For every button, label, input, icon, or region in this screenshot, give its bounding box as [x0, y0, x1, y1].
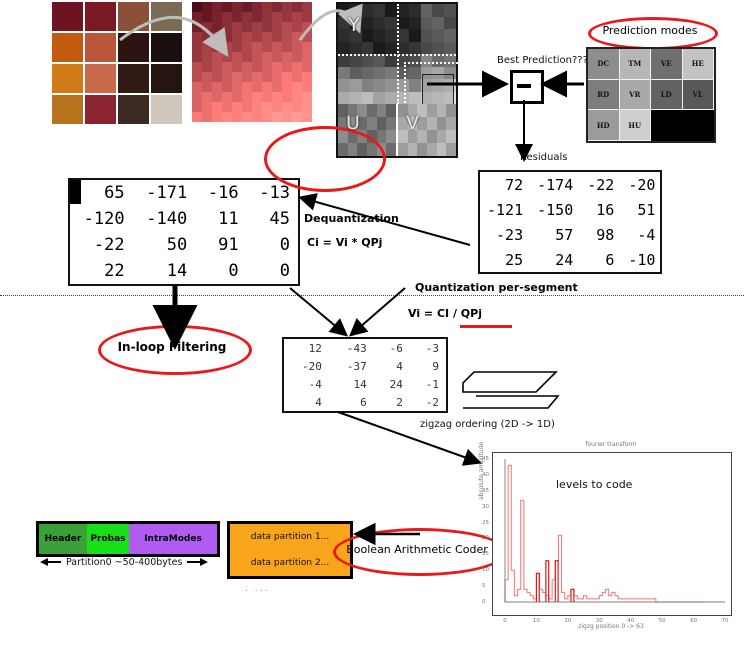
macroblock-pixel [292, 32, 302, 42]
histogram-y-tick: 10 [482, 567, 489, 573]
macroblock-pixel [262, 52, 272, 62]
y-pixel [385, 79, 397, 92]
matrix-cell: -2 [410, 393, 446, 411]
matrix-cell: -171 [133, 180, 196, 206]
macroblock-pixel [212, 22, 222, 32]
macroblock-pixel [282, 2, 292, 12]
macroblock-pixel [232, 12, 242, 22]
partition0-size-text: Partition0 ~50-400bytes [66, 557, 182, 568]
v-pixel [427, 143, 437, 156]
matrix-cell: 4 [284, 393, 329, 411]
prediction-modes-label: Prediction modes [588, 17, 712, 44]
subtract-node-icon [510, 70, 544, 104]
y-pixel [409, 29, 421, 42]
boolean-arithmetic-coder-label: Boolean Arithmetic Coder [333, 528, 501, 570]
matrix-cell: -16 [195, 180, 246, 206]
macroblock-pixel [242, 2, 252, 12]
selected-subblock [422, 74, 455, 106]
y-pixel [421, 17, 433, 30]
v-pixel [427, 130, 437, 143]
y-pixel [385, 67, 397, 80]
v-pixel [446, 104, 456, 117]
matrix-row: -41424-1 [284, 375, 446, 393]
macroblock-pixel [222, 2, 232, 12]
macroblock-pixel [232, 92, 242, 102]
mosaic-block [151, 64, 182, 93]
matrix-row: 221400 [70, 258, 298, 284]
u-plane-label: U [346, 112, 360, 134]
best-prediction-label: Best Prediction??? [497, 55, 588, 66]
v-pixel [446, 117, 456, 130]
histogram-title: fourier transform [492, 441, 730, 448]
macroblock-pixel [242, 72, 252, 82]
macroblock-pixel [302, 22, 312, 32]
macroblock-pixel [302, 72, 312, 82]
mosaic-block [85, 64, 116, 93]
macroblock-pixel [192, 42, 202, 52]
macroblock-pixel [202, 72, 212, 82]
macroblock-pixel [232, 102, 242, 112]
u-pixel [377, 104, 387, 117]
y-pixel [362, 42, 374, 55]
v-pixel [437, 117, 447, 130]
y-pixel [338, 79, 350, 92]
matrix-cell: -20 [284, 357, 329, 375]
macroblock-pixel [282, 102, 292, 112]
matrix-cell: 91 [195, 232, 246, 258]
matrix-cell: 45 [247, 206, 298, 232]
u-pixel [386, 117, 396, 130]
macroblock-pixel [292, 22, 302, 32]
macroblock-pixel [302, 92, 312, 102]
v-pixel [427, 104, 437, 117]
mosaic-block [118, 33, 149, 62]
histogram-peak [536, 573, 539, 602]
macroblock-pixel [262, 72, 272, 82]
macroblock-pixel [252, 22, 262, 32]
macroblock-pixel [192, 22, 202, 32]
macroblock-pixel [222, 62, 232, 72]
prediction-mode-rd[interactable]: RD [588, 80, 620, 111]
v-pixel [437, 143, 447, 156]
matrix-cell: -43 [329, 339, 374, 357]
histogram-chart: 010203040506070051015202530354045 [492, 452, 732, 616]
y-pixel [444, 4, 456, 17]
quantization-formula: Vi = CI / QPj [408, 307, 482, 320]
y-pixel [373, 67, 385, 80]
quantization-label: Quantization per-segment [415, 281, 578, 294]
macroblock-pixel [272, 72, 282, 82]
macroblock-pixel [242, 32, 252, 42]
mosaic-block [151, 2, 182, 31]
macroblock-pixel [202, 32, 212, 42]
histogram-y-tick: 25 [482, 520, 489, 526]
dequantized-matrix: 65-171-16-13-120-1401145-2250910221400 [68, 178, 300, 286]
u-pixel [386, 130, 396, 143]
matrix-cell: -3 [410, 339, 446, 357]
macroblock-pixel [192, 12, 202, 22]
macroblock-pixel [262, 22, 272, 32]
y-pixel [385, 29, 397, 42]
macroblock-pixel [292, 92, 302, 102]
y-pixel [444, 29, 456, 42]
pipeline-divider [0, 295, 744, 296]
mosaic-block [118, 64, 149, 93]
y-pixel [373, 92, 385, 105]
macroblock-pixel [302, 112, 312, 122]
residuals-label: Residuals [520, 152, 567, 163]
v-plane: V [398, 104, 456, 156]
zigzag-scan-icon-2 [463, 396, 558, 408]
bitstream-segment-intramodes: IntraModes [129, 524, 217, 554]
macroblock-pixel [212, 102, 222, 112]
u-pixel [386, 143, 396, 156]
matrix-row: 72-174-22-20 [480, 172, 662, 197]
y-pixel [444, 42, 456, 55]
macroblock-pixel [252, 52, 262, 62]
matrix-cell: 0 [195, 258, 246, 284]
prediction-mode-hu[interactable]: HU [620, 110, 652, 141]
y-pixel [432, 4, 444, 17]
matrix-cell: 51 [621, 197, 662, 222]
macroblock-pixel [302, 62, 312, 72]
y-pixel [385, 17, 397, 30]
macroblock-pixel [222, 22, 232, 32]
y-pixel [432, 29, 444, 42]
matrix-cell: -174 [530, 172, 580, 197]
macroblock-pixel [212, 2, 222, 12]
macroblock-pixel [222, 72, 232, 82]
macroblock-pixel [202, 42, 212, 52]
macroblock-pixel [272, 42, 282, 52]
quantized-matrix: 12-43-6-3-20-3749-41424-1462-2 [282, 337, 448, 413]
macroblock-pixel [242, 22, 252, 32]
macroblock-pixel [282, 92, 292, 102]
mosaic-block [52, 33, 83, 62]
macroblock-pixel [242, 82, 252, 92]
matrix-cell: 12 [284, 339, 329, 357]
macroblock-pixel [292, 102, 302, 112]
macroblock-pixel [202, 62, 212, 72]
matrix-cell: 2 [374, 393, 410, 411]
y-pixel [444, 17, 456, 30]
y-pixel [350, 92, 362, 105]
y-pixel [373, 17, 385, 30]
zigzag-scan-icon [463, 372, 556, 392]
y-plane-label: Y [348, 14, 360, 36]
macroblock-pixel [262, 102, 272, 112]
macroblock-pixel [232, 72, 242, 82]
macroblock-pixel [292, 12, 302, 22]
y-pixel [421, 4, 433, 17]
mosaic-block [85, 33, 116, 62]
mosaic-block [85, 95, 116, 124]
prediction-mode-hd[interactable]: HD [588, 110, 620, 141]
matrix-cell: 98 [580, 222, 621, 247]
prediction-mode-ld[interactable]: LD [651, 80, 683, 111]
matrix-cell: 14 [329, 375, 374, 393]
macroblock-pixel [292, 112, 302, 122]
bitstream-segment-probas: Probas [87, 524, 129, 554]
macroblock-pixel [222, 52, 232, 62]
macroblock-pixel [292, 62, 302, 72]
macroblock-pixel [262, 12, 272, 22]
y-pixel [350, 79, 362, 92]
y-pixel [338, 92, 350, 105]
matrix-row: 25246-10 [480, 247, 662, 272]
macroblock-pixel [272, 22, 282, 32]
macroblock-pixel [302, 52, 312, 62]
dc-coefficient-marker [70, 180, 81, 204]
dequantization-formula: Ci = Vi * QPj [307, 236, 382, 249]
mosaic-block [118, 2, 149, 31]
macroblock-pixel [212, 82, 222, 92]
matrix-cell: -6 [374, 339, 410, 357]
mosaic-block [52, 95, 83, 124]
matrix-cell: -1 [410, 375, 446, 393]
macroblock-pixel [202, 102, 212, 112]
u-pixel [377, 117, 387, 130]
matrix-row: -121-1501651 [480, 197, 662, 222]
matrix-cell: 16 [580, 197, 621, 222]
macroblock-pixel [202, 82, 212, 92]
macroblock-pixel [262, 82, 272, 92]
macroblock-pixel [252, 12, 262, 22]
prediction-mode-he[interactable]: HE [683, 49, 715, 80]
source-image-mosaic [52, 2, 182, 124]
macroblock-pixel [192, 32, 202, 42]
y-pixel [362, 67, 374, 80]
y-pixel [373, 79, 385, 92]
mosaic-block [118, 95, 149, 124]
macroblock-pixel [272, 52, 282, 62]
levels-to-code-label: levels to code [556, 478, 632, 491]
macroblock-pixel [242, 12, 252, 22]
macroblock-pixel [242, 92, 252, 102]
macroblock-pixel [282, 22, 292, 32]
y-pixel [373, 29, 385, 42]
macroblock-pixel [282, 62, 292, 72]
matrix-cell: 72 [480, 172, 530, 197]
matrix-cell: -120 [70, 206, 133, 232]
inloop-filtering-label: In-loop Filtering [98, 325, 246, 369]
residuals-matrix: 72-174-22-20-121-1501651-235798-425246-1… [478, 170, 662, 274]
macroblock-pixel [292, 52, 302, 62]
v-pixel [398, 143, 408, 156]
macroblock-pixel [252, 62, 262, 72]
macroblock-pixel [262, 42, 272, 52]
histogram-y-axis-label: absolute amplitude [478, 442, 485, 500]
matrix-cell: -140 [133, 206, 196, 232]
prediction-mode-vr[interactable]: VR [620, 80, 652, 111]
partition0-caption: Partition0 ~50-400bytes [40, 556, 255, 568]
matrix-cell: -37 [329, 357, 374, 375]
macroblock-pixel [192, 112, 202, 122]
macroblock-pixel [262, 62, 272, 72]
macroblock-pixel [272, 2, 282, 12]
macroblock-pixel [232, 112, 242, 122]
macroblock-pixel [302, 102, 312, 112]
y-pixel [421, 29, 433, 42]
macroblock-pixel [232, 52, 242, 62]
y-pixel [362, 17, 374, 30]
macroblock-pixel [252, 92, 262, 102]
mosaic-block [52, 64, 83, 93]
right-arrow-icon [186, 556, 208, 568]
macroblock-pixel [192, 92, 202, 102]
macroblock-pixel [212, 32, 222, 42]
mosaic-block [85, 2, 116, 31]
histogram-peak [555, 561, 558, 602]
macroblock-zoom-image [192, 2, 312, 122]
matrix-cell: 6 [329, 393, 374, 411]
macroblock-pixel [282, 112, 292, 122]
macroblock-pixel [252, 72, 262, 82]
macroblock-pixel [282, 42, 292, 52]
macroblock-pixel [242, 52, 252, 62]
matrix-cell: -20 [621, 172, 662, 197]
macroblock-pixel [192, 62, 202, 72]
y-pixel [362, 29, 374, 42]
y-pixel [432, 42, 444, 55]
prediction-mode-tm[interactable]: TM [620, 49, 652, 80]
y-pixel [385, 92, 397, 105]
zigzag-ordering-label: zigzag ordering (2D -> 1D) [420, 419, 555, 430]
macroblock-pixel [232, 82, 242, 92]
macroblock-pixel [252, 112, 262, 122]
macroblock-pixel [272, 32, 282, 42]
macroblock-pixel [282, 52, 292, 62]
macroblock-pixel [272, 102, 282, 112]
prediction-mode-vl[interactable]: VL [683, 80, 715, 111]
macroblock-pixel [222, 92, 232, 102]
macroblock-pixel [272, 82, 282, 92]
macroblock-pixel [192, 82, 202, 92]
macroblock-pixel [262, 92, 272, 102]
macroblock-pixel [232, 62, 242, 72]
matrix-cell: -23 [480, 222, 530, 247]
macroblock-pixel [282, 32, 292, 42]
v-pixel [446, 143, 456, 156]
macroblock-pixel [252, 102, 262, 112]
histogram-y-tick: 20 [482, 535, 489, 541]
macroblock-pixel [242, 42, 252, 52]
prediction-modes-grid: DCTMVEHERDVRLDVLHDHU [586, 47, 716, 143]
matrix-cell: 57 [530, 222, 580, 247]
histogram-y-tick: 15 [482, 551, 489, 557]
macroblock-pixel [222, 42, 232, 52]
macroblock-pixel [302, 32, 312, 42]
macroblock-pixel [192, 2, 202, 12]
matrix-cell: 0 [247, 258, 298, 284]
bitstream-segment-header: Header [39, 524, 87, 554]
macroblock-pixel [272, 12, 282, 22]
qpj-underline [460, 325, 512, 328]
macroblock-pixel [242, 102, 252, 112]
y-pixel [338, 42, 350, 55]
matrix-row: -2250910 [70, 232, 298, 258]
matrix-cell: -150 [530, 197, 580, 222]
y-pixel [350, 67, 362, 80]
macroblock-pixel [212, 92, 222, 102]
prediction-mode-dc[interactable]: DC [588, 49, 620, 80]
macroblock-pixel [272, 92, 282, 102]
macroblock-pixel [292, 82, 302, 92]
macroblock-pixel [202, 12, 212, 22]
y-pixel [385, 4, 397, 17]
macroblock-pixel [222, 32, 232, 42]
v-pixel [408, 143, 418, 156]
matrix-cell: 6 [580, 247, 621, 272]
macroblock-pixel [192, 72, 202, 82]
macroblock-pixel [202, 22, 212, 32]
macroblock-pixel [242, 112, 252, 122]
histogram-y-tick: 5 [482, 583, 486, 589]
y-pixel [350, 42, 362, 55]
matrix-row: -235798-4 [480, 222, 662, 247]
prediction-mode-empty[interactable] [651, 110, 683, 141]
macroblock-pixel [282, 72, 292, 82]
reconstruction-highlight-ellipse [264, 126, 386, 192]
macroblock-pixel [252, 2, 262, 12]
y-pixel [409, 42, 421, 55]
matrix-cell: 24 [374, 375, 410, 393]
macroblock-pixel [242, 62, 252, 72]
y-pixel [409, 17, 421, 30]
macroblock-pixel [302, 82, 312, 92]
v-pixel [427, 117, 437, 130]
prediction-mode-ve[interactable]: VE [651, 49, 683, 80]
macroblock-pixel [262, 32, 272, 42]
macroblock-pixel [292, 72, 302, 82]
histogram-x-axis-label: zigzg position 0 -> 63 [492, 623, 730, 630]
matrix-row: 65-171-16-13 [70, 180, 298, 206]
matrix-row: -120-1401145 [70, 206, 298, 232]
macroblock-pixel [222, 12, 232, 22]
y-pixel [362, 4, 374, 17]
left-arrow-icon [40, 556, 62, 568]
matrix-cell: 4 [374, 357, 410, 375]
matrix-cell: -10 [621, 247, 662, 272]
v-pixel [437, 104, 447, 117]
y-pixel [432, 17, 444, 30]
macroblock-pixel [222, 82, 232, 92]
matrix-cell: -4 [284, 375, 329, 393]
u-pixel [367, 104, 377, 117]
y-pixel [362, 92, 374, 105]
macroblock-pixel [272, 62, 282, 72]
macroblock-pixel [252, 32, 262, 42]
y-pixel [362, 79, 374, 92]
macroblock-pixel [202, 2, 212, 12]
y-pixel [421, 42, 433, 55]
y-pixel [385, 42, 397, 55]
partition0-bitstream: Header Probas IntraModes [36, 521, 220, 557]
histogram-peak [571, 589, 574, 602]
macroblock-pixel [302, 12, 312, 22]
u-pixel [367, 117, 377, 130]
v-pixel [437, 130, 447, 143]
macroblock-pixel [212, 42, 222, 52]
macroblock-pixel [232, 22, 242, 32]
prediction-mode-empty[interactable] [683, 110, 715, 141]
matrix-cell: 22 [70, 258, 133, 284]
u-pixel [386, 104, 396, 117]
data-partition-ellipsis: . ... [245, 584, 269, 594]
macroblock-pixel [202, 52, 212, 62]
matrix-cell: -121 [480, 197, 530, 222]
macroblock-pixel [292, 2, 302, 12]
